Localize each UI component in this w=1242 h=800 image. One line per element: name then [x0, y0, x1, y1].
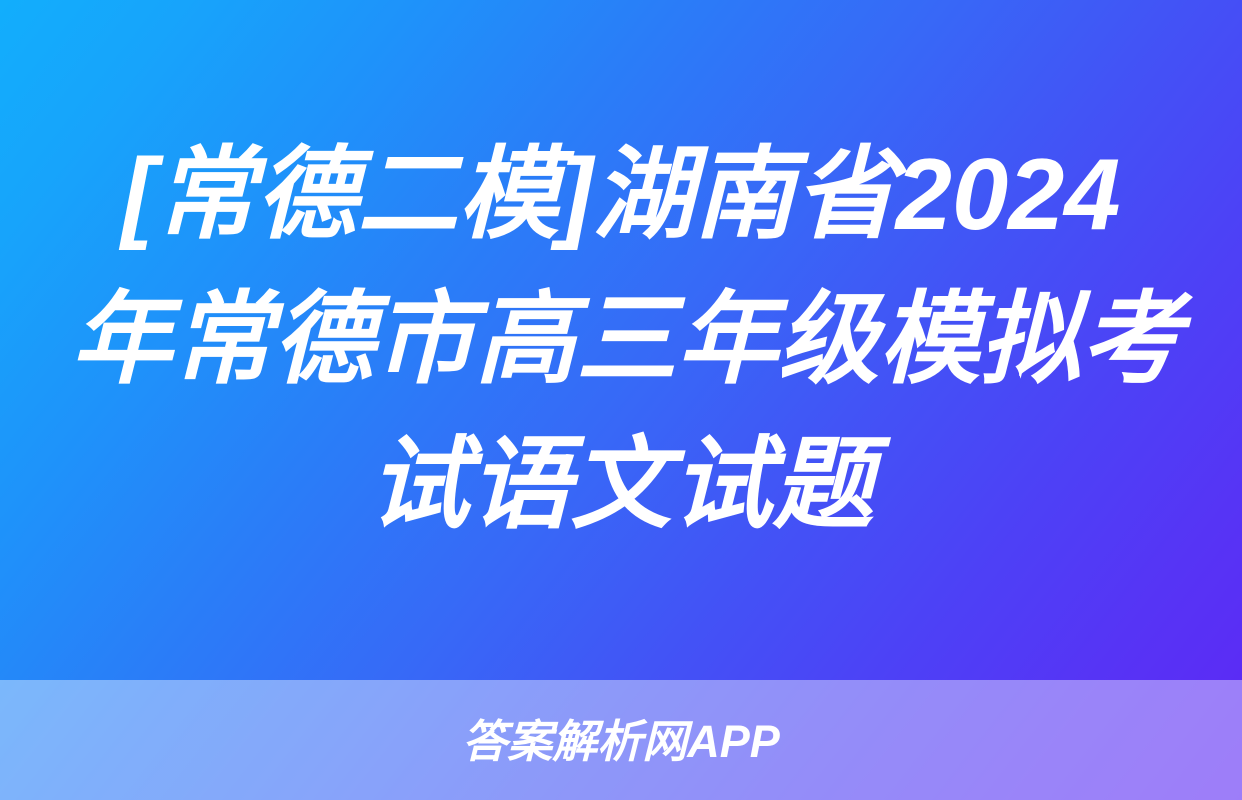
title-block: [常德二模]湖南省2024 年常德市高三年级模拟考 试语文试题	[0, 0, 1242, 680]
title-line-3: 试语文试题	[71, 413, 1171, 558]
title-line-1: [常德二模]湖南省2024	[71, 123, 1171, 268]
exam-paper-banner: [常德二模]湖南省2024 年常德市高三年级模拟考 试语文试题 答案解析网APP	[0, 0, 1242, 800]
title-line-2: 年常德市高三年级模拟考	[71, 268, 1171, 413]
watermark-brand-label: 答案解析网APP	[462, 719, 780, 764]
watermark-band: 答案解析网APP	[0, 680, 1242, 800]
